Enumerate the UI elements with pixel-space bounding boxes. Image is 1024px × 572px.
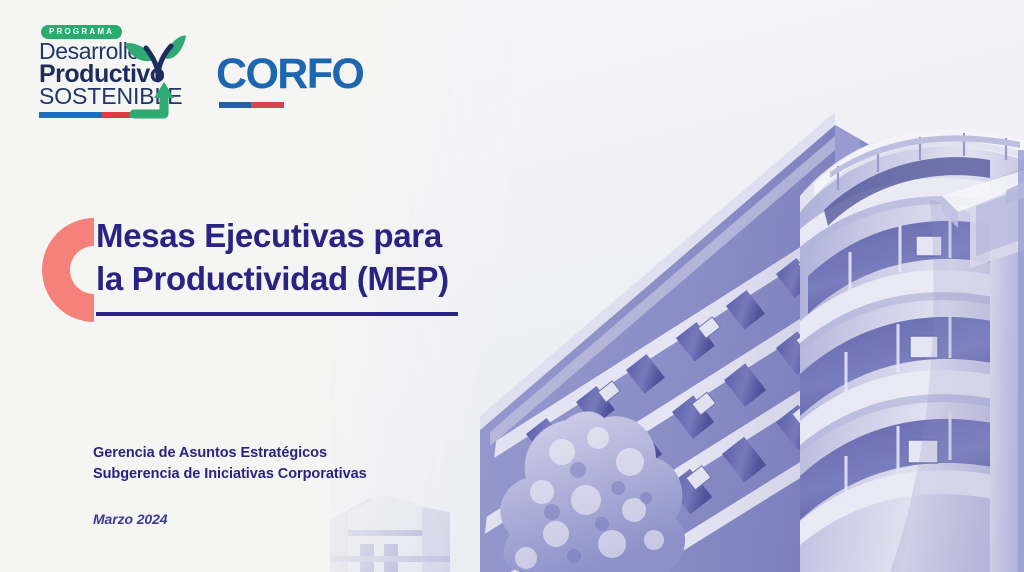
title-line-2: la Productividad (MEP)	[96, 257, 516, 300]
title-line-1: Mesas Ejecutivas para	[96, 214, 516, 257]
title-underline	[96, 312, 458, 316]
department-line-1: Gerencia de Asuntos Estratégicos	[93, 443, 367, 464]
page-title: Mesas Ejecutivas para la Productividad (…	[96, 214, 516, 300]
programa-badge: PROGRAMA	[41, 25, 122, 39]
corfo-tricolor-bar	[219, 102, 284, 108]
bar-segment-blue	[39, 112, 102, 118]
department-block: Gerencia de Asuntos Estratégicos Subgere…	[93, 443, 367, 485]
bar-segment-blue	[219, 102, 251, 108]
title-slide: PROGRAMA Desarrollo Productivo SOSTENIBL…	[0, 0, 1024, 572]
logo-corfo: CORFO	[216, 52, 376, 114]
coral-arc-decoration	[38, 218, 94, 322]
logo-desarrollo-productivo-sostenible: PROGRAMA Desarrollo Productivo SOSTENIBL…	[36, 22, 186, 118]
bar-segment-red	[251, 102, 284, 108]
date-label: Marzo 2024	[93, 511, 167, 527]
department-line-2: Subgerencia de Iniciativas Corporativas	[93, 464, 367, 485]
corfo-wordmark: CORFO	[216, 52, 363, 96]
sprout-arrow-icon	[124, 22, 186, 118]
